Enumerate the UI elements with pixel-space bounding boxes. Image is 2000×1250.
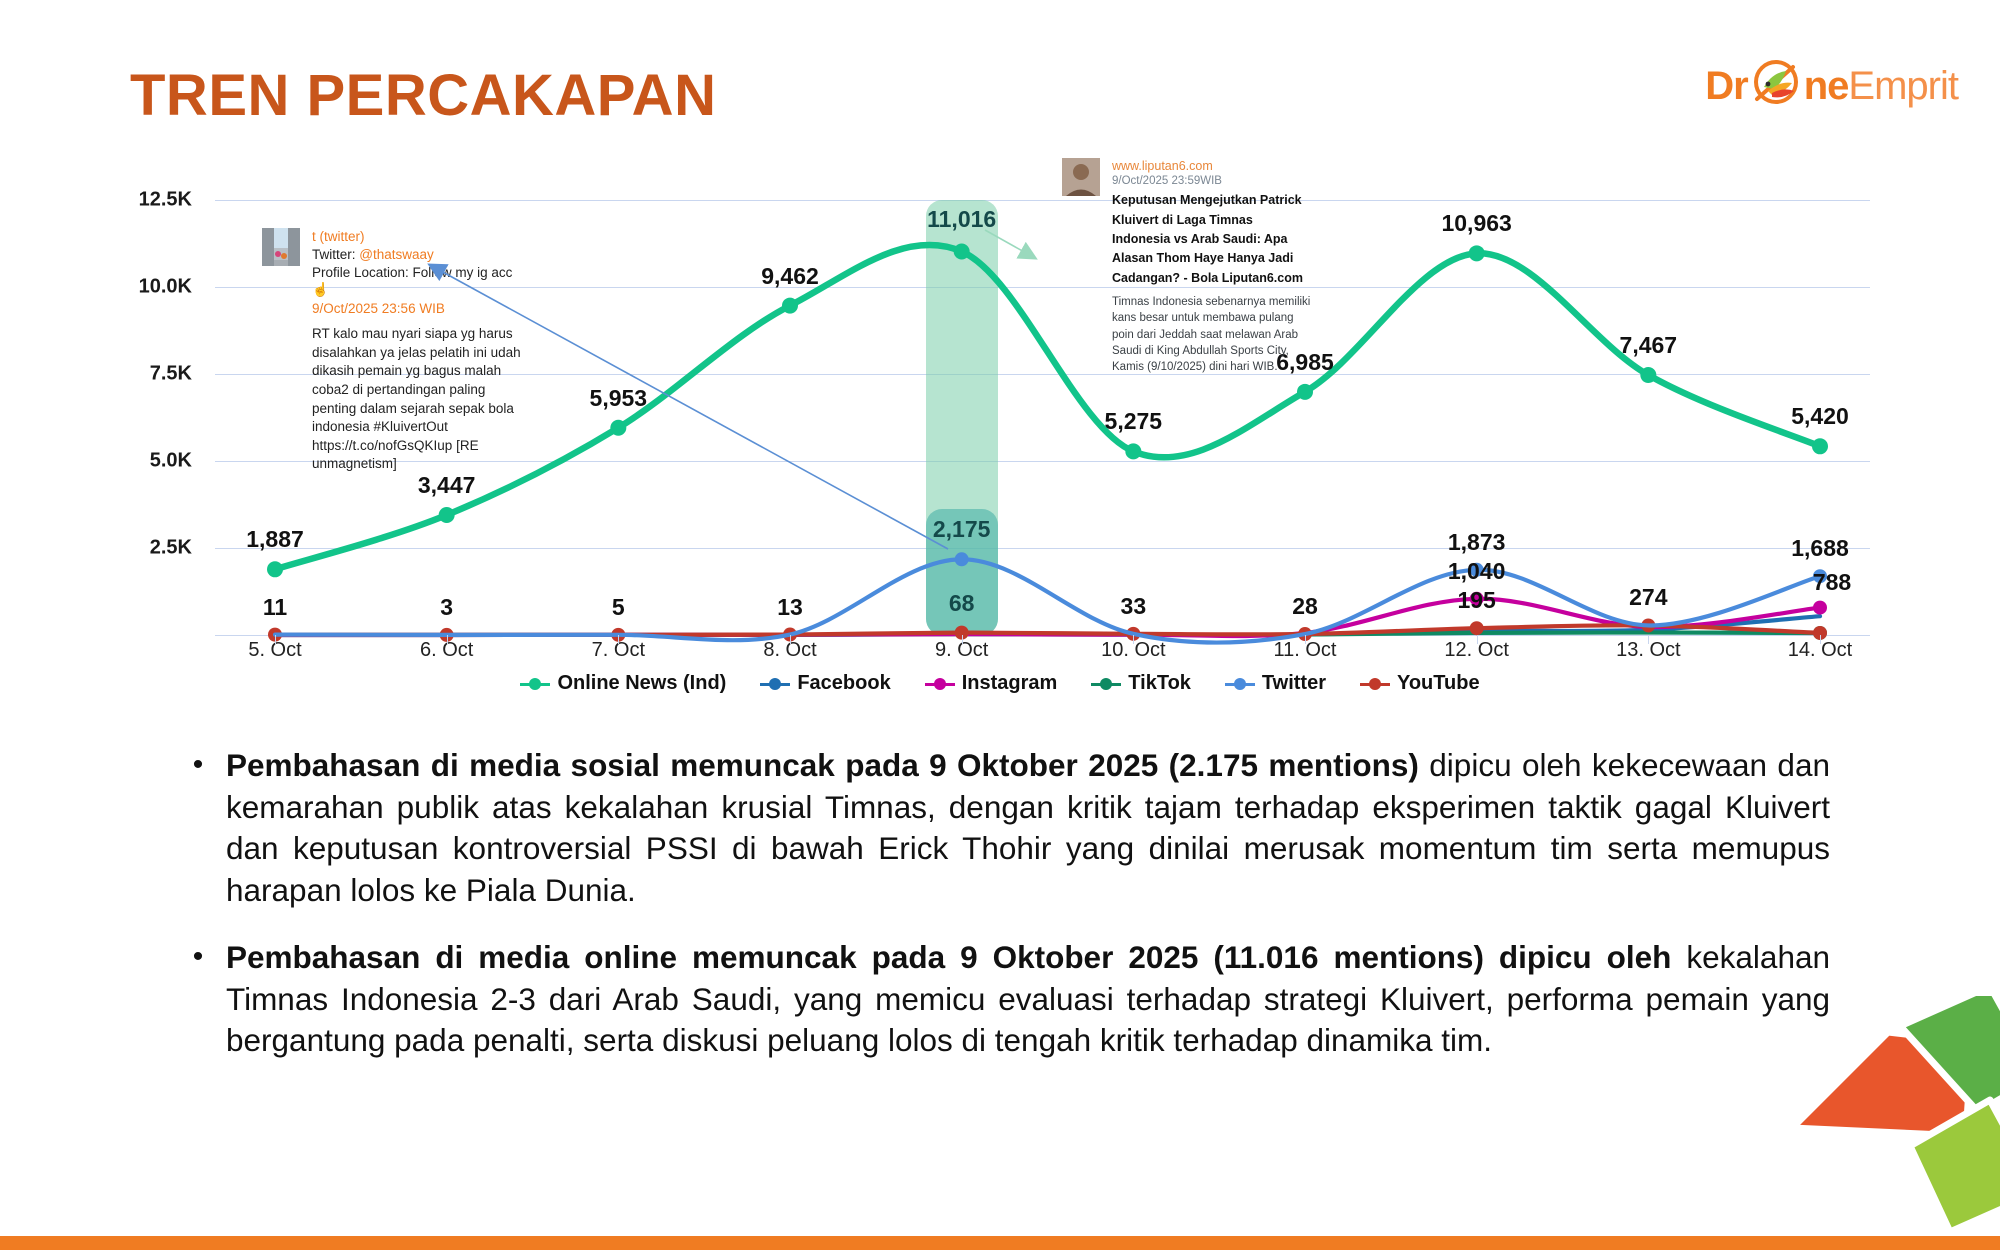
data-point-label: 13 (777, 594, 803, 621)
data-point-label: 2,175 (933, 516, 991, 543)
legend-marker-icon (1360, 676, 1390, 692)
news-avatar-image (1062, 158, 1100, 196)
legend-item-facebook[interactable]: Facebook (760, 672, 890, 695)
legend-label: YouTube (1397, 672, 1480, 695)
y-axis-tick-label: 10.0K (139, 275, 192, 298)
x-axis-tick-mark (790, 635, 791, 644)
legend-item-youtube[interactable]: YouTube (1360, 672, 1480, 695)
series-point[interactable] (610, 420, 626, 436)
data-point-label: 5,275 (1105, 408, 1163, 435)
y-axis-tick-label: 7.5K (150, 362, 192, 385)
news-timestamp: 9/Oct/2025 23:59WIB (1112, 174, 1312, 189)
data-point-label: 1,688 (1791, 535, 1849, 562)
data-point-label: 5,953 (590, 385, 648, 412)
x-axis-tick-mark (275, 635, 276, 644)
data-point-label: 11,016 (927, 206, 996, 233)
x-axis-tick-mark (1133, 635, 1134, 644)
legend-marker-icon (520, 676, 550, 692)
y-axis-tick-label: 5.0K (150, 449, 192, 472)
legend-item-online-news-ind[interactable]: Online News (Ind) (520, 672, 726, 695)
legend-label: Online News (Ind) (557, 672, 726, 695)
legend-item-twitter[interactable]: Twitter (1225, 672, 1326, 695)
legend-label: Instagram (962, 672, 1058, 695)
legend-marker-icon (925, 676, 955, 692)
bullet-marker-icon: • (170, 745, 226, 785)
series-point[interactable] (1813, 601, 1827, 615)
data-point-label: 1,873 (1448, 529, 1506, 556)
bullet-paragraph: Pembahasan di media online memuncak pada… (226, 937, 1830, 1062)
news-source-url[interactable]: www.liputan6.com (1112, 158, 1312, 174)
x-axis-tick-mark (618, 635, 619, 644)
series-point[interactable] (1297, 384, 1313, 400)
data-point-label: 9,462 (761, 263, 819, 290)
data-point-label: 5,420 (1791, 403, 1849, 430)
series-point[interactable] (1470, 621, 1484, 635)
y-axis-tick-label: 2.5K (150, 536, 192, 559)
twitter-post-body: RT kalo mau nyari siapa yg harus disalah… (312, 325, 524, 474)
twitter-handle: @thatswaay (359, 247, 434, 262)
data-point-label: 10,963 (1441, 210, 1511, 237)
series-point[interactable] (954, 243, 970, 259)
series-point[interactable] (1640, 367, 1656, 383)
twitter-profile-location: Profile Location: Follow my ig acc (312, 264, 524, 282)
data-point-label: 7,467 (1620, 332, 1678, 359)
data-point-label: 788 (1813, 569, 1851, 596)
twitter-source-label: t (twitter) (312, 228, 524, 246)
logo-text-emprit: Emprit (1848, 64, 1958, 108)
x-axis-tick-mark (447, 635, 448, 644)
twitter-handle-prefix: Twitter: (312, 247, 359, 262)
data-point-label: 5 (612, 594, 625, 621)
drone-emprit-bird-icon (1748, 57, 1804, 113)
legend-item-instagram[interactable]: Instagram (925, 672, 1058, 695)
data-point-label: 11 (263, 594, 287, 621)
brand-logo: Dr neEmprit (1705, 52, 1958, 118)
body-text: •Pembahasan di media sosial memuncak pad… (170, 745, 1830, 1088)
series-point[interactable] (1469, 245, 1485, 261)
series-point[interactable] (955, 552, 969, 566)
legend-label: TikTok (1128, 672, 1191, 695)
twitter-avatar-image (262, 228, 300, 266)
legend-item-tiktok[interactable]: TikTok (1091, 672, 1191, 695)
x-axis-tick-mark (1477, 635, 1478, 644)
twitter-emoji: ☝ (312, 281, 524, 299)
data-point-label: 274 (1629, 584, 1667, 611)
legend-marker-icon (1225, 676, 1255, 692)
data-point-label: 68 (949, 590, 975, 617)
bullet-marker-icon: • (170, 937, 226, 977)
data-point-label: 3 (440, 594, 453, 621)
page-title: TREN PERCAKAPAN (130, 62, 716, 129)
data-point-label: 3,447 (418, 472, 476, 499)
legend-label: Facebook (797, 672, 890, 695)
corner-decoration (1740, 996, 2000, 1236)
chart-legend: Online News (Ind)FacebookInstagramTikTok… (120, 672, 1880, 695)
x-axis-tick-mark (962, 635, 963, 644)
data-point-label: 33 (1121, 593, 1147, 620)
x-axis-tick-mark (1820, 635, 1821, 644)
legend-label: Twitter (1262, 672, 1326, 695)
series-point[interactable] (267, 561, 283, 577)
body-bullet: •Pembahasan di media online memuncak pad… (170, 937, 1830, 1062)
series-point[interactable] (782, 298, 798, 314)
legend-marker-icon (1091, 676, 1121, 692)
bottom-accent-bar (0, 1236, 2000, 1250)
bullet-paragraph: Pembahasan di media sosial memuncak pada… (226, 745, 1830, 911)
data-point-label: 195 (1457, 587, 1495, 614)
y-axis-tick-label: 12.5K (139, 188, 192, 211)
data-point-label: 28 (1292, 593, 1318, 620)
twitter-timestamp: 9/Oct/2025 23:56 WIB (312, 300, 524, 318)
body-bullet: •Pembahasan di media sosial memuncak pad… (170, 745, 1830, 911)
x-axis-tick-mark (1305, 635, 1306, 644)
twitter-handle-row: Twitter: @thatswaay (312, 246, 524, 264)
x-axis-tick-mark (1648, 635, 1649, 644)
series-point[interactable] (439, 507, 455, 523)
data-point-label: 1,887 (246, 526, 304, 553)
bullet-emphasis: Pembahasan di media sosial memuncak pada… (226, 747, 1419, 783)
news-snippet: Timnas Indonesia sebenarnya memiliki kan… (1112, 294, 1312, 376)
series-point[interactable] (1125, 443, 1141, 459)
legend-marker-icon (760, 676, 790, 692)
logo-text-dr: Dr (1705, 64, 1747, 108)
logo-text-ne: ne (1804, 64, 1849, 108)
series-point[interactable] (1812, 438, 1828, 454)
bullet-emphasis: Pembahasan di media online memuncak pada… (226, 939, 1671, 975)
data-point-label: 1,040 (1448, 558, 1506, 585)
news-headline: Keputusan Mengejutkan Patrick Kluivert d… (1112, 191, 1312, 288)
slide: TREN PERCAKAPAN Dr neEmprit 2.5K5.0K7.5K… (0, 0, 2000, 1250)
